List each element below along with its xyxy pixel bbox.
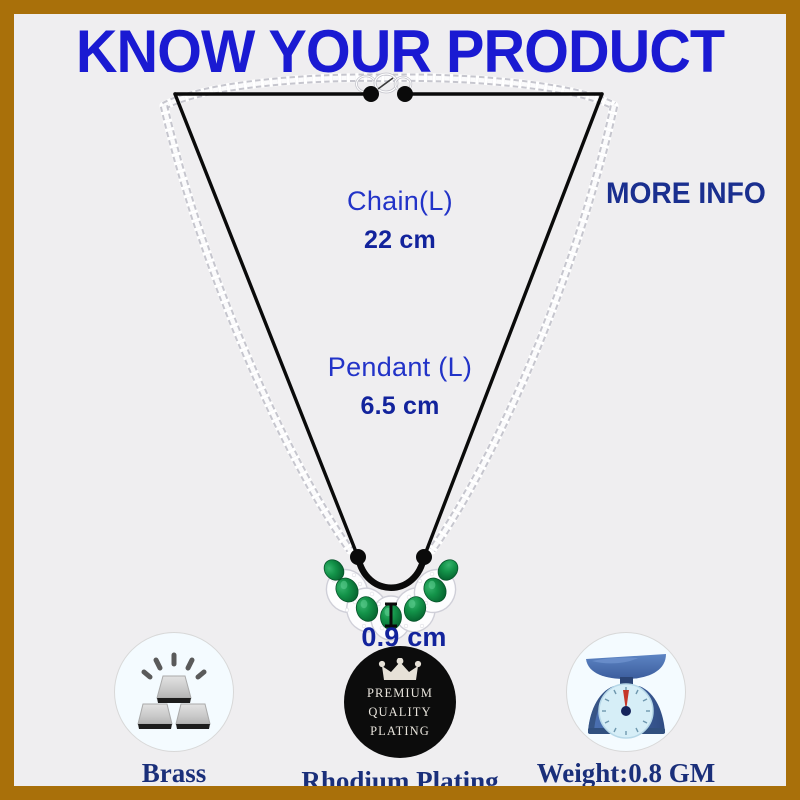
metal-bars-icon xyxy=(114,632,234,752)
weighing-scale-icon xyxy=(566,632,686,752)
more-info-heading: MORE INFO xyxy=(606,177,766,211)
feature-weight: Weight:0.8 GM xyxy=(526,632,726,786)
page-title: KNOW YOUR PRODUCT xyxy=(29,20,770,83)
badge-line-2: QUALITY xyxy=(368,703,431,722)
brass-icon-wrap xyxy=(114,632,234,752)
premium-quality-badge-icon: PREMIUM QUALITY PLATING xyxy=(344,646,456,758)
feature-brass: Brass xyxy=(74,632,274,786)
chain-strands xyxy=(164,78,614,550)
chain-length-measurement: Chain(L) 22 cm xyxy=(270,186,530,255)
badge-line-1: PREMIUM xyxy=(367,684,433,703)
brass-caption: Brass xyxy=(74,758,274,786)
pendant-length-value: 6.5 cm xyxy=(270,392,530,421)
infographic-canvas: KNOW YOUR PRODUCT xyxy=(14,14,786,786)
pendant-measure-line xyxy=(350,549,432,588)
chain-length-label: Chain(L) xyxy=(270,186,530,217)
weight-caption: Weight:0.8 GM xyxy=(526,758,726,786)
plating-caption: Rhodium Plating xyxy=(300,766,500,786)
pendant-length-measurement: Pendant (L) 6.5 cm xyxy=(270,352,530,421)
infographic-page: KNOW YOUR PRODUCT xyxy=(0,0,800,800)
chain-measure-line xyxy=(175,86,602,557)
crown-icon xyxy=(378,658,422,682)
weight-icon-wrap xyxy=(566,632,686,752)
pendant-length-label: Pendant (L) xyxy=(270,352,530,383)
chain-length-value: 22 cm xyxy=(270,226,530,255)
badge-line-3: PLATING xyxy=(370,722,430,741)
feature-plating: PREMIUM QUALITY PLATING Rhodium Plating xyxy=(300,642,500,786)
